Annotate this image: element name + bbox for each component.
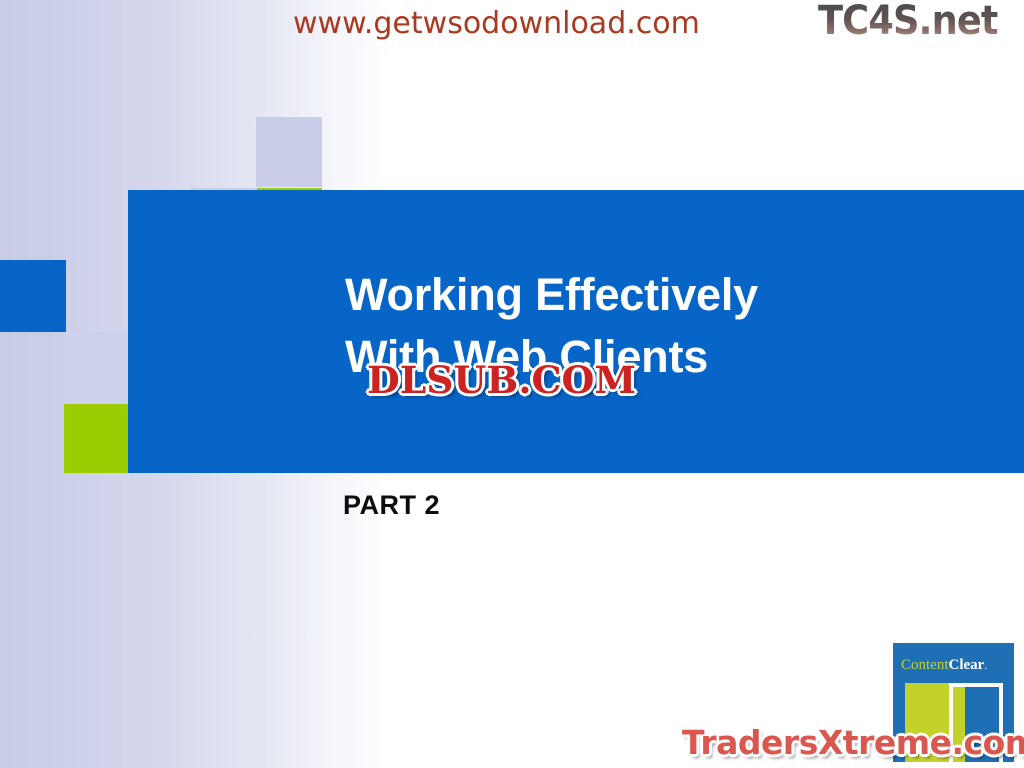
blue-square-far-left — [0, 260, 66, 332]
lavender-square-top — [256, 117, 322, 187]
logo-word-content: Content — [901, 657, 949, 673]
logo-word-clear: Clear — [949, 657, 985, 673]
watermark-dlsub-overlay: DLSUB.COM — [367, 358, 636, 402]
watermark-top-url: www.getwsodownload.com — [293, 6, 700, 41]
watermark-tradersxtreme-brand: TradersXtreme.com — [682, 723, 1024, 762]
lavender-square-row4 — [64, 332, 128, 404]
presentation-slide: Working Effectively With Web Clients PAR… — [0, 0, 1024, 768]
title-line-1: Working Effectively — [345, 264, 985, 326]
logo-word-suffix: . — [984, 660, 987, 672]
slide-subtitle: PART 2 — [343, 490, 440, 521]
green-square-bottom — [64, 404, 128, 473]
contentclear-wordmark: ContentClear. — [901, 657, 987, 674]
watermark-tc4s-brand: TC4S.net — [818, 0, 998, 44]
